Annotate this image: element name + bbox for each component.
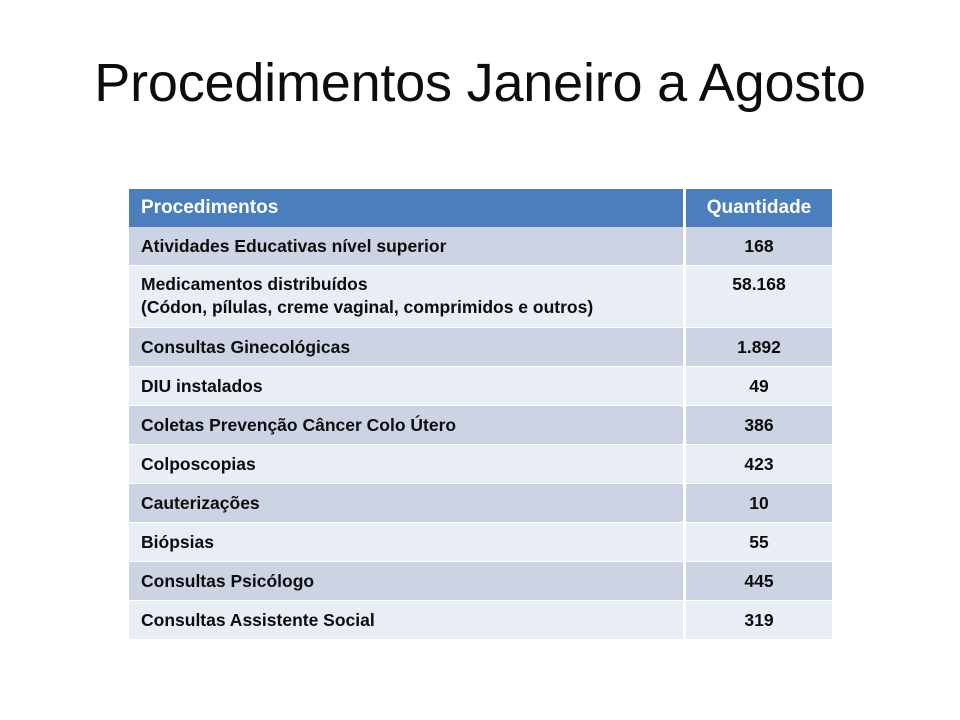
table-row[interactable]: Biópsias 55 [129, 523, 832, 562]
cell-procedimento: Consultas Ginecológicas [129, 328, 686, 367]
table-row[interactable]: Consultas Assistente Social 319 [129, 601, 832, 640]
cell-quantidade: 386 [686, 406, 832, 445]
cell-procedimento: Consultas Psicólogo [129, 562, 686, 601]
cell-quantidade: 423 [686, 445, 832, 484]
cell-quantidade: 1.892 [686, 328, 832, 367]
cell-procedimento-line1: Biópsias [141, 531, 677, 553]
cell-quantidade: 445 [686, 562, 832, 601]
cell-quantidade: 10 [686, 484, 832, 523]
column-header-procedimentos[interactable]: Procedimentos [129, 189, 686, 227]
cell-quantidade: 168 [686, 227, 832, 266]
table-header: Procedimentos Quantidade [129, 189, 832, 227]
cell-procedimento-line1: Medicamentos distribuídos [141, 273, 677, 295]
page-title: Procedimentos Janeiro a Agosto [0, 52, 960, 114]
cell-procedimento: Cauterizações [129, 484, 686, 523]
cell-procedimento: Consultas Assistente Social [129, 601, 686, 640]
table-row[interactable]: Coletas Prevenção Câncer Colo Útero 386 [129, 406, 832, 445]
slide: Procedimentos Janeiro a Agosto Procedime… [0, 0, 960, 720]
procedures-table-container: Procedimentos Quantidade Atividades Educ… [129, 189, 832, 640]
cell-procedimento: Biópsias [129, 523, 686, 562]
cell-procedimento-line1: Cauterizações [141, 492, 677, 514]
column-header-quantidade[interactable]: Quantidade [686, 189, 832, 227]
table-row[interactable]: Atividades Educativas nível superior 168 [129, 227, 832, 266]
table-row[interactable]: Colposcopias 423 [129, 445, 832, 484]
cell-quantidade: 49 [686, 367, 832, 406]
cell-procedimento: Medicamentos distribuídos (Códon, pílula… [129, 266, 686, 328]
cell-procedimento-line1: Consultas Psicólogo [141, 570, 677, 592]
cell-procedimento-line1: Colposcopias [141, 453, 677, 475]
table-row[interactable]: Consultas Psicólogo 445 [129, 562, 832, 601]
cell-procedimento-line1: DIU instalados [141, 375, 677, 397]
cell-procedimento-line2: (Códon, pílulas, creme vaginal, comprimi… [141, 296, 677, 318]
cell-procedimento: Colposcopias [129, 445, 686, 484]
cell-procedimento-line1: Consultas Assistente Social [141, 609, 677, 631]
table-row[interactable]: Cauterizações 10 [129, 484, 832, 523]
table-header-row: Procedimentos Quantidade [129, 189, 832, 227]
table-row[interactable]: Consultas Ginecológicas 1.892 [129, 328, 832, 367]
cell-procedimento-line1: Consultas Ginecológicas [141, 336, 677, 358]
cell-quantidade: 55 [686, 523, 832, 562]
cell-procedimento-line1: Atividades Educativas nível superior [141, 235, 677, 257]
cell-quantidade: 58.168 [686, 266, 832, 328]
cell-procedimento: Atividades Educativas nível superior [129, 227, 686, 266]
cell-procedimento: DIU instalados [129, 367, 686, 406]
table-row[interactable]: Medicamentos distribuídos (Códon, pílula… [129, 266, 832, 328]
cell-quantidade: 319 [686, 601, 832, 640]
table-row[interactable]: DIU instalados 49 [129, 367, 832, 406]
cell-procedimento: Coletas Prevenção Câncer Colo Útero [129, 406, 686, 445]
cell-procedimento-line1: Coletas Prevenção Câncer Colo Útero [141, 414, 677, 436]
table-body: Atividades Educativas nível superior 168… [129, 227, 832, 640]
procedures-table: Procedimentos Quantidade Atividades Educ… [129, 189, 832, 640]
